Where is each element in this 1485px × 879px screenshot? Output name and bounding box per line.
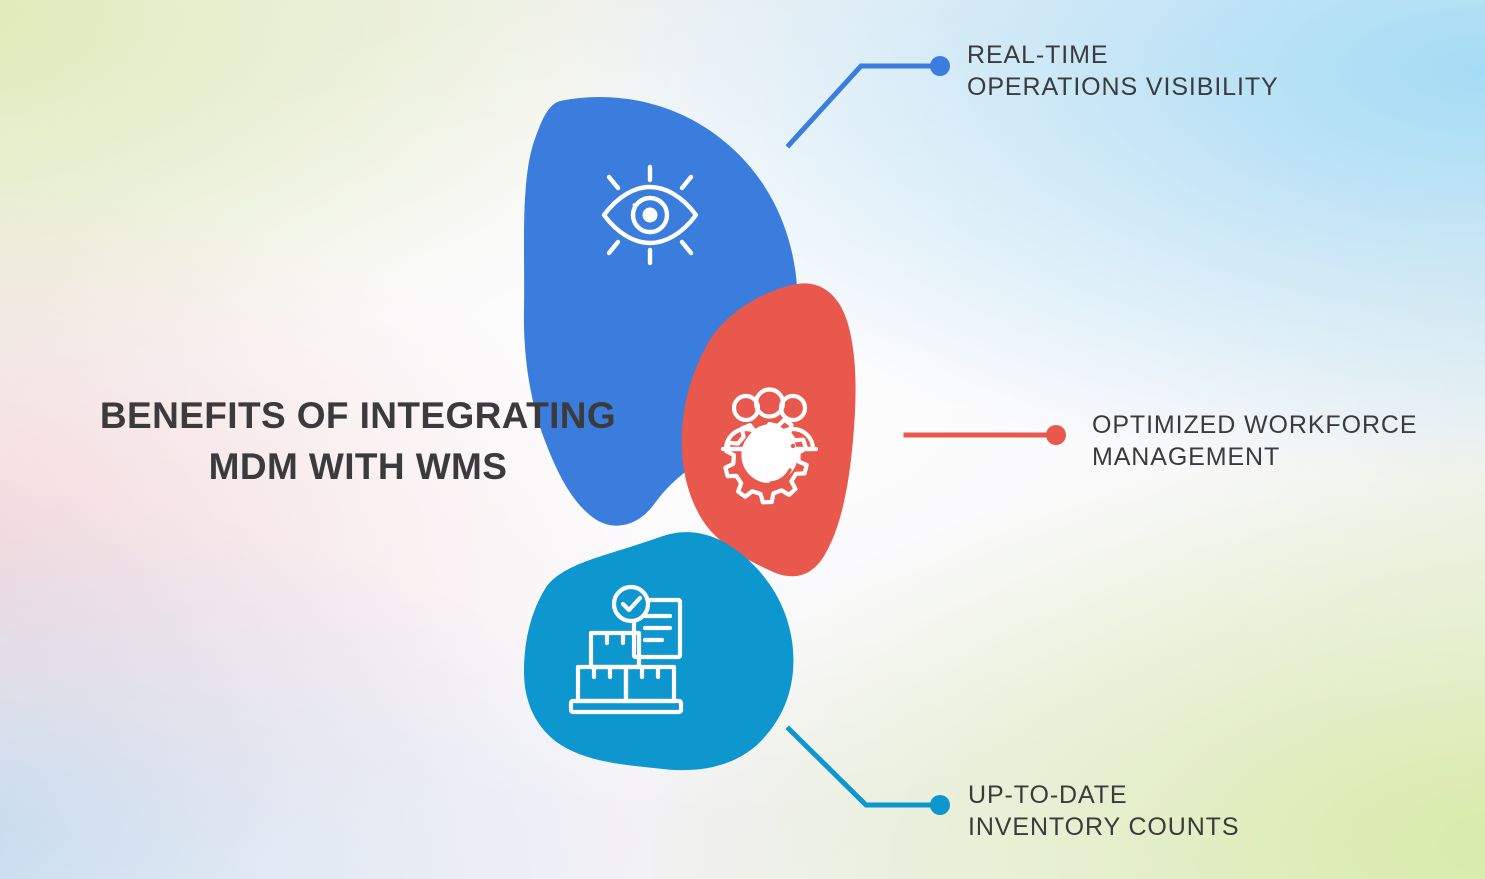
title-line-2: MDM WITH WMS — [58, 441, 658, 492]
connector-line-cyan — [789, 729, 937, 805]
benefit-label-line-2: INVENTORY COUNTS — [968, 812, 1239, 844]
connector-line-blue — [789, 66, 937, 145]
benefit-label-line-2: OPERATIONS VISIBILITY — [967, 72, 1279, 104]
benefit-label-line-2: MANAGEMENT — [1092, 442, 1417, 474]
connector-dot-blue — [930, 56, 950, 76]
page-title: BENEFITS OF INTEGRATING MDM WITH WMS — [58, 390, 658, 492]
connector-dot-cyan — [930, 795, 950, 815]
benefit-label-real-time-operations-visibility[interactable]: REAL-TIME OPERATIONS VISIBILITY — [967, 40, 1279, 103]
blob-cyan — [524, 532, 793, 770]
title-line-1: BENEFITS OF INTEGRATING — [58, 390, 658, 441]
benefit-label-line-1: REAL-TIME — [967, 40, 1279, 72]
connector-optimized-workforce-management — [906, 425, 1066, 445]
connector-up-to-date-inventory-counts — [789, 729, 950, 815]
connector-real-time-operations-visibility — [789, 56, 950, 145]
benefit-label-optimized-workforce-management[interactable]: OPTIMIZED WORKFORCE MANAGEMENT — [1092, 410, 1417, 473]
benefit-label-up-to-date-inventory-counts[interactable]: UP-TO-DATE INVENTORY COUNTS — [968, 780, 1239, 843]
benefit-shape-up-to-date-inventory-counts[interactable] — [524, 532, 793, 770]
benefit-label-line-1: UP-TO-DATE — [968, 780, 1239, 812]
benefit-label-line-1: OPTIMIZED WORKFORCE — [1092, 410, 1417, 442]
connector-dot-coral — [1046, 425, 1066, 445]
